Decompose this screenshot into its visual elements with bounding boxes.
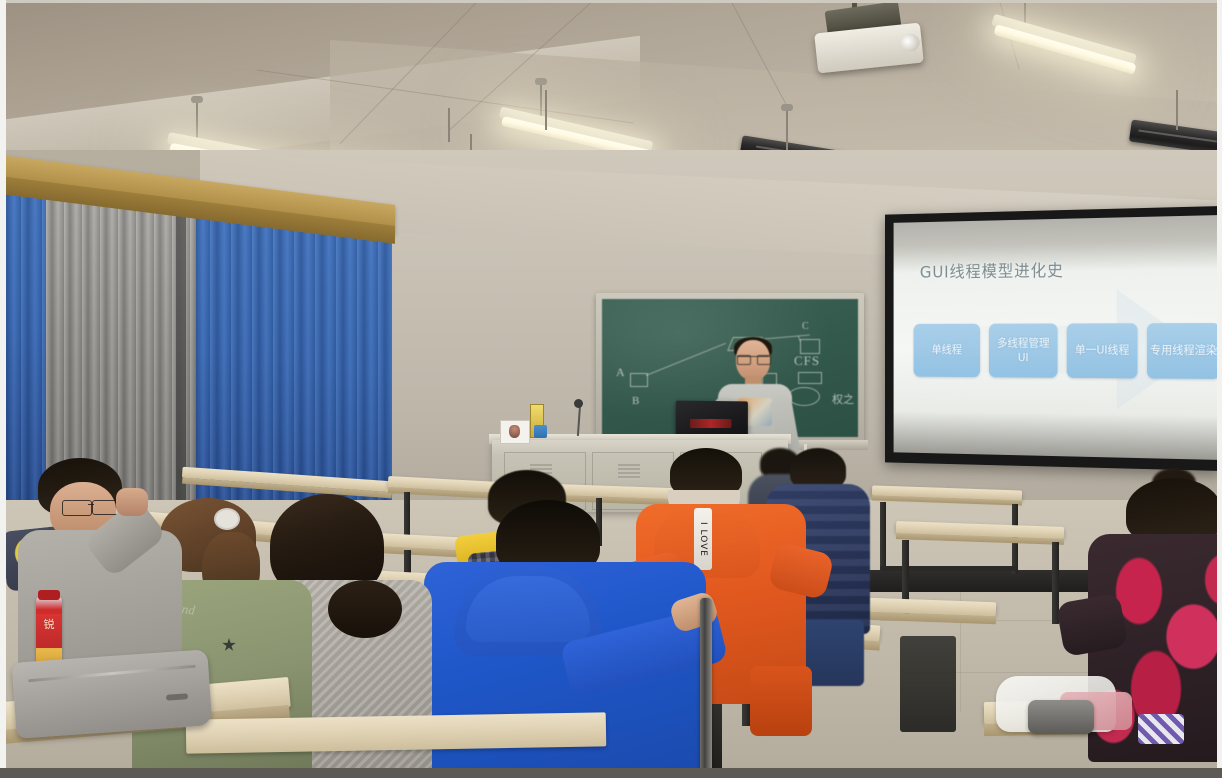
heater-rod bbox=[545, 90, 547, 130]
slide-box-1: 单线程 bbox=[914, 324, 980, 377]
slide-title: GUI线程模型进化史 bbox=[920, 257, 1064, 283]
glasses-icon bbox=[62, 500, 92, 516]
heater-rod bbox=[1176, 90, 1178, 130]
slide-box-4: 专用线程渲染 bbox=[1147, 323, 1220, 379]
student-jacket-hem bbox=[750, 666, 812, 736]
desk-leg bbox=[404, 492, 410, 540]
light-rod-cap bbox=[535, 78, 547, 85]
glasses-bridge bbox=[88, 504, 94, 505]
chalk-box bbox=[798, 372, 822, 384]
slide-box-3: 单一UI线程 bbox=[1067, 323, 1138, 378]
heater-strip bbox=[1138, 130, 1217, 143]
chalk-text-a: A bbox=[616, 365, 625, 380]
heater-rod-cap bbox=[781, 104, 793, 111]
projection-screen-frame: GUI线程模型进化史 单线程 多线程管理UI 单一UI线程 专用线程渲染 bbox=[885, 206, 1222, 471]
desk-leg bbox=[880, 502, 886, 568]
photo-edge-top bbox=[0, 0, 1222, 3]
classroom-photo: A CFS C B 权之 GUI线程模型进化史 单线程 多线程管理UI 单一UI… bbox=[0, 0, 1222, 778]
photo-edge-right bbox=[1217, 0, 1222, 778]
hood-print-text: I LOVE bbox=[698, 522, 708, 557]
student-hair-fall bbox=[328, 580, 402, 638]
photo-card bbox=[500, 420, 530, 444]
desk-rail bbox=[880, 566, 1016, 571]
chalk-misc: 权之 bbox=[832, 391, 854, 407]
laptop-logo-icon bbox=[690, 419, 732, 428]
chair-back bbox=[900, 636, 956, 732]
chalk-text-b: B bbox=[632, 395, 639, 407]
heater-rod bbox=[786, 108, 788, 156]
projection-screen-surface: GUI线程模型进化史 单线程 多线程管理UI 单一UI线程 专用线程渲染 bbox=[894, 215, 1222, 460]
chalk-text-c: C bbox=[802, 321, 809, 332]
light-rod-cap bbox=[191, 96, 203, 103]
glasses-bridge bbox=[737, 356, 769, 364]
chalk-text-cfs: CFS bbox=[794, 353, 820, 369]
projector-lens-icon bbox=[899, 33, 921, 53]
purple-patterned-item bbox=[1138, 714, 1184, 744]
blue-cup bbox=[534, 425, 547, 438]
chalk-box bbox=[800, 339, 820, 354]
chalk-connector bbox=[646, 343, 726, 377]
student-hand bbox=[116, 488, 148, 516]
bottle-cap bbox=[38, 590, 60, 600]
pencil-case bbox=[1028, 700, 1094, 734]
lectern-vent bbox=[618, 464, 640, 480]
suitcase-handle bbox=[700, 598, 712, 774]
student-arm bbox=[1056, 593, 1128, 657]
microphone-icon bbox=[574, 399, 583, 408]
slide-box-2: 多线程管理UI bbox=[989, 323, 1058, 377]
slide-process-boxes: 单线程 多线程管理UI 单一UI线程 专用线程渲染 bbox=[914, 323, 1221, 379]
photo-edge-bottom bbox=[0, 768, 1222, 778]
photo-edge-left bbox=[0, 0, 6, 778]
photo-portrait bbox=[509, 425, 520, 438]
hair-tie bbox=[214, 508, 240, 530]
light-rod bbox=[196, 100, 198, 142]
bottle-label-text: 锐 bbox=[36, 616, 62, 632]
heater-rod bbox=[448, 108, 450, 142]
